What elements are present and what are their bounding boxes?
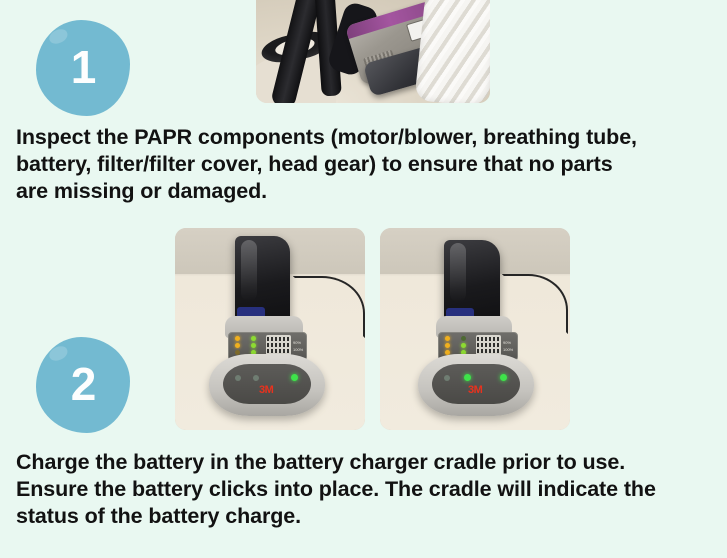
panel-led-amber bbox=[235, 343, 240, 348]
panel-percent-label: 100% bbox=[503, 348, 513, 352]
step-2-badge: 2 bbox=[36, 337, 130, 433]
3m-logo: 3M bbox=[259, 385, 273, 396]
panel-led-green bbox=[461, 343, 466, 348]
level-row bbox=[267, 343, 289, 347]
step-1-text: Inspect the PAPR components (motor/blowe… bbox=[16, 124, 716, 205]
filter-cover bbox=[414, 0, 490, 103]
base-status-light bbox=[235, 375, 241, 381]
papr-components-photo bbox=[256, 0, 490, 103]
battery-charger-cradle-photo-1: 90% 100% 3M bbox=[175, 228, 365, 430]
panel-led-green bbox=[251, 336, 256, 341]
step-1-badge: 1 bbox=[36, 20, 130, 116]
panel-percent-label: 90% bbox=[503, 341, 511, 345]
step-1-number: 1 bbox=[36, 20, 130, 116]
step-2-text: Charge the battery in the battery charge… bbox=[16, 449, 716, 530]
level-row bbox=[477, 343, 499, 347]
level-row bbox=[477, 337, 499, 341]
base-status-light-lit bbox=[464, 374, 471, 381]
level-row bbox=[267, 337, 289, 341]
instruction-page: 1 Inspect the PAPR components (motor/blo… bbox=[0, 0, 727, 558]
base-status-light bbox=[444, 375, 450, 381]
base-status-light bbox=[253, 375, 259, 381]
panel-led-amber bbox=[445, 343, 450, 348]
level-row bbox=[267, 349, 289, 353]
panel-led-green bbox=[251, 343, 256, 348]
panel-percent-label: 100% bbox=[293, 348, 303, 352]
panel-led-amber bbox=[235, 336, 240, 341]
panel-percent-label: 90% bbox=[293, 341, 301, 345]
3m-logo: 3M bbox=[468, 385, 482, 396]
level-row bbox=[477, 349, 499, 353]
step-2-number: 2 bbox=[36, 337, 130, 433]
battery-charger-cradle-photo-2: 90% 100% 3M bbox=[380, 228, 570, 430]
panel-led-amber bbox=[445, 336, 450, 341]
base-status-light-lit bbox=[500, 374, 507, 381]
base-status-light-lit bbox=[291, 374, 298, 381]
panel-led-green bbox=[461, 336, 466, 341]
